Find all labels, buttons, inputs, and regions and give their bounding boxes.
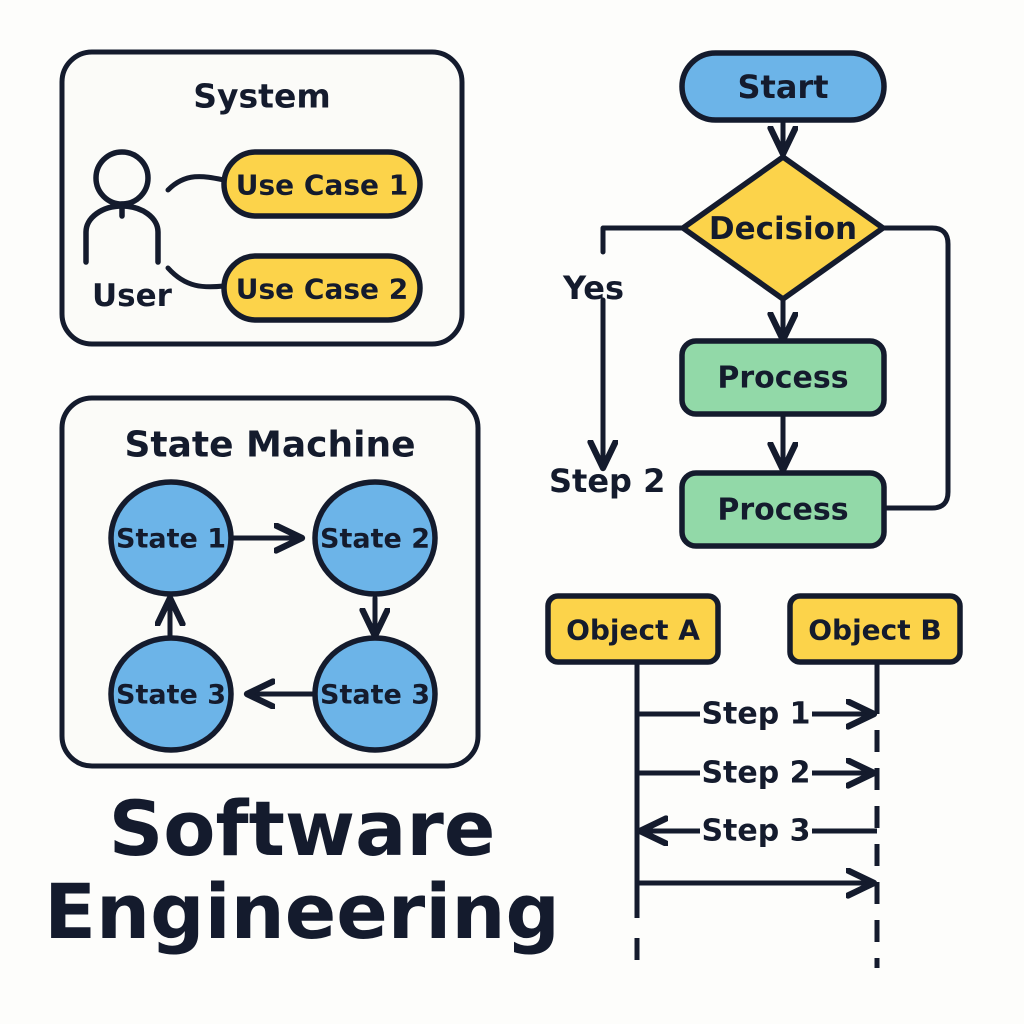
flow-branch-yes-label: Yes: [562, 269, 624, 307]
use-case-1-label: Use Case 1: [236, 169, 408, 202]
sequence-message-3-label: Step 3: [701, 814, 810, 849]
state-4-label: State 3: [320, 680, 430, 711]
software-engineering-diagram: System User Use Case 1 Use Case 2 State …: [0, 0, 1024, 1024]
flow-node-start[interactable]: Start: [682, 53, 884, 120]
flow-node-process-1[interactable]: Process: [682, 341, 884, 414]
actor-label: User: [92, 278, 173, 314]
flow-process-1-label: Process: [717, 361, 848, 396]
flow-node-process-2[interactable]: Process: [682, 473, 884, 546]
sequence-object-b[interactable]: Object B: [790, 596, 960, 662]
sequence-object-a-label: Object A: [566, 614, 700, 647]
sequence-object-a[interactable]: Object A: [548, 596, 718, 662]
sequence-message-2-label: Step 2: [701, 756, 810, 791]
state-machine-panel: State Machine State 1 State 2 State 3 St…: [62, 398, 478, 766]
page-title-line-1: Software: [109, 784, 496, 873]
use-case-2[interactable]: Use Case 2: [224, 256, 420, 320]
page-title-line-2: Engineering: [44, 867, 560, 956]
flow-decision-label: Decision: [709, 211, 857, 247]
state-3-label: State 3: [116, 680, 226, 711]
state-node-3[interactable]: State 3: [111, 638, 231, 750]
sequence-message-1-label: Step 1: [701, 697, 810, 732]
sequence-object-b-label: Object B: [808, 614, 942, 647]
flow-branch-target-label: Step 2: [549, 462, 665, 500]
state-1-label: State 1: [116, 524, 226, 555]
flow-process-2-label: Process: [717, 493, 848, 528]
use-case-panel: System User Use Case 1 Use Case 2: [62, 52, 462, 344]
use-case-1[interactable]: Use Case 1: [224, 152, 420, 216]
diagram-canvas: System User Use Case 1 Use Case 2 State …: [0, 0, 1024, 1024]
state-2-label: State 2: [320, 524, 430, 555]
page-title: Software Engineering: [44, 784, 560, 956]
use-case-panel-title: System: [193, 77, 330, 116]
flow-start-label: Start: [737, 68, 828, 106]
use-case-2-label: Use Case 2: [236, 273, 408, 306]
state-node-4[interactable]: State 3: [315, 638, 435, 750]
state-node-2[interactable]: State 2: [315, 482, 435, 594]
state-machine-panel-title: State Machine: [124, 425, 415, 466]
state-node-1[interactable]: State 1: [111, 482, 231, 594]
